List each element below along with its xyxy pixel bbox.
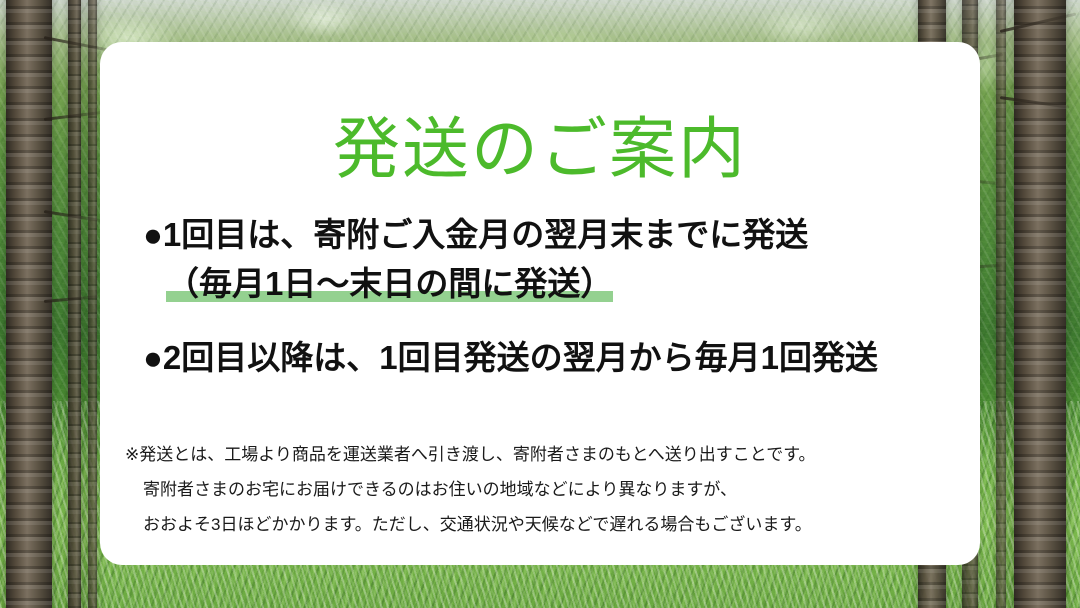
slide-canvas: 発送のご案内 ●1回目は、寄附ご入金月の翌月末までに発送 （毎月1日〜末日の間に… (0, 0, 1080, 608)
footnote-line: 寄附者さまのお宅にお届けできるのはお住いの地域などにより異なりますが、 (125, 481, 960, 498)
bullet-line-text: ●2回目以降は、1回目発送の翌月から毎月1回発送 (143, 341, 956, 374)
footnote-line: ※発送とは、工場より商品を運送業者へ引き渡し、寄附者さまのもとへ送り出すことです… (125, 446, 960, 463)
bullet-item: ●2回目以降は、1回目発送の翌月から毎月1回発送 (143, 341, 956, 374)
tree-trunk (88, 0, 97, 608)
tree-trunk (996, 0, 1006, 608)
bullet-list: ●1回目は、寄附ご入金月の翌月末までに発送 （毎月1日〜末日の間に発送） ●2回… (143, 218, 956, 374)
page-title: 発送のご案内 (100, 116, 980, 183)
information-card: 発送のご案内 ●1回目は、寄附ご入金月の翌月末までに発送 （毎月1日〜末日の間に… (100, 42, 980, 565)
bullet-item: ●1回目は、寄附ご入金月の翌月末までに発送 （毎月1日〜末日の間に発送） (143, 218, 956, 300)
bullet-line-text: （毎月1日〜末日の間に発送） (143, 267, 956, 300)
highlighted-text: （毎月1日〜末日の間に発送） (166, 265, 613, 302)
footnote-block: ※発送とは、工場より商品を運送業者へ引き渡し、寄附者さまのもとへ送り出すことです… (125, 446, 960, 533)
bullet-line-text: ●1回目は、寄附ご入金月の翌月末までに発送 (143, 218, 956, 251)
tree-trunk (68, 0, 81, 608)
tree-trunk (1014, 0, 1066, 608)
tree-trunk (6, 0, 52, 608)
footnote-line: おおよそ3日ほどかかります。ただし、交通状況や天候などで遅れる場合もございます。 (125, 516, 960, 533)
